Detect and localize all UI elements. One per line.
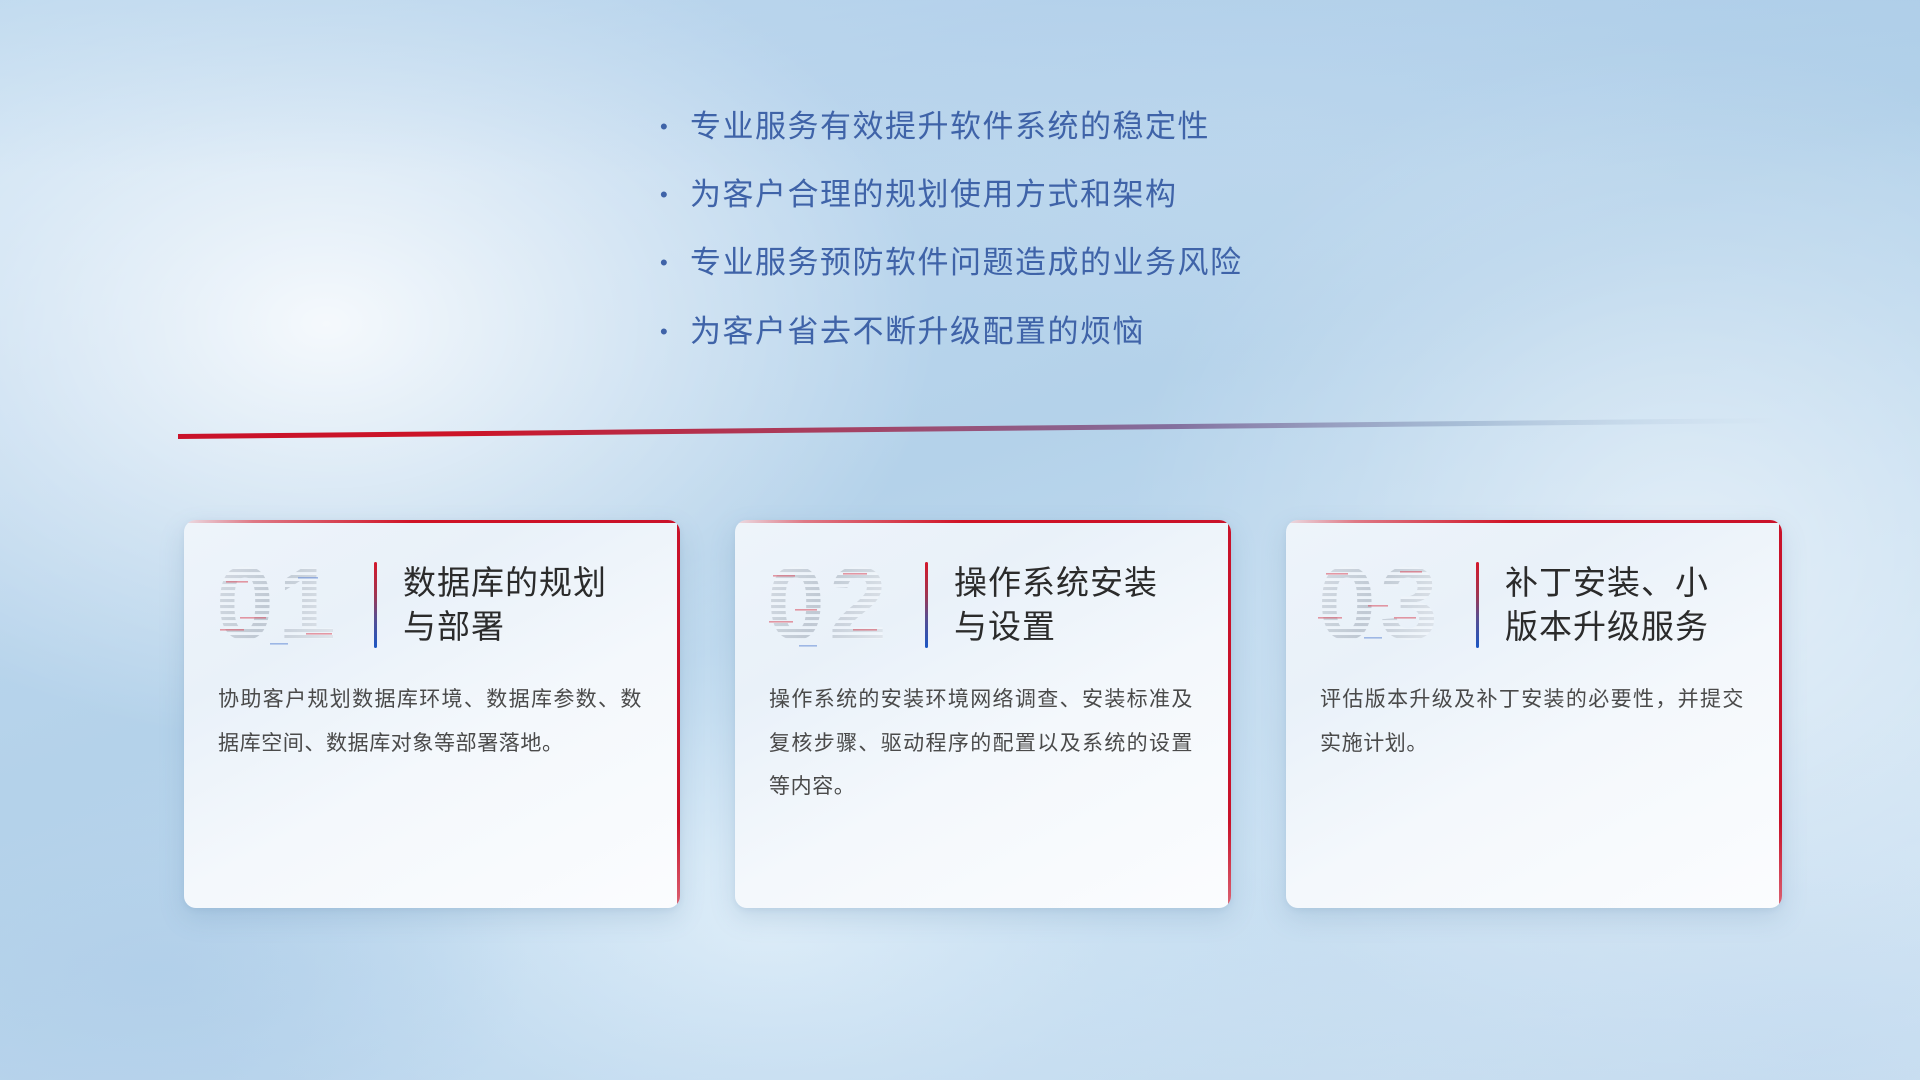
card-title: 数据库的规划 与部署 [403,561,607,648]
card-header: 03 03 补丁安装、小 版本升级服务 [1286,520,1782,660]
svg-text:02: 02 [767,551,891,659]
svg-text:01: 01 [216,551,340,659]
feature-card[interactable]: 02 02 操作系统安装 与设置 [735,520,1231,908]
feature-card-row: 01 01 数据库的规划 与部署 [184,520,1784,908]
bullet-item: • 专业服务有效提升软件系统的稳定性 [660,108,1420,145]
bullet-dot-icon: • [660,321,690,343]
bullet-text: 专业服务预防软件问题造成的业务风险 [690,244,1243,281]
card-accent-rule [925,562,928,648]
card-number-graphic: 02 02 [765,551,915,659]
striped-number-icon: 03 03 [1316,551,1466,659]
card-header: 01 01 数据库的规划 与部署 [184,520,680,660]
card-title: 补丁安装、小 版本升级服务 [1505,561,1709,648]
section-divider-shape [178,418,1778,440]
bullet-dot-icon: • [660,184,690,206]
bullet-dot-icon: • [660,252,690,274]
bullet-text: 为客户省去不断升级配置的烦恼 [690,313,1145,350]
card-title: 操作系统安装 与设置 [954,561,1158,648]
bullet-list: • 专业服务有效提升软件系统的稳定性 • 为客户合理的规划使用方式和架构 • 专… [660,108,1420,381]
bullet-text: 为客户合理的规划使用方式和架构 [690,176,1178,213]
striped-number-icon: 02 02 [765,551,915,659]
card-number-graphic: 03 03 [1316,551,1466,659]
card-accent-rule [1476,562,1479,648]
feature-card[interactable]: 01 01 数据库的规划 与部署 [184,520,680,908]
bullet-text: 专业服务有效提升软件系统的稳定性 [690,108,1210,145]
card-body-text: 评估版本升级及补丁安装的必要性，并提交实施计划。 [1286,660,1782,765]
card-header: 02 02 操作系统安装 与设置 [735,520,1231,660]
bullet-item: • 为客户省去不断升级配置的烦恼 [660,313,1420,350]
bullet-dot-icon: • [660,116,690,138]
bullet-item: • 为客户合理的规划使用方式和架构 [660,176,1420,213]
section-divider [178,418,1778,440]
bullet-item: • 专业服务预防软件问题造成的业务风险 [660,244,1420,281]
slide-root: • 专业服务有效提升软件系统的稳定性 • 为客户合理的规划使用方式和架构 • 专… [0,0,1920,1080]
card-body-text: 操作系统的安装环境网络调查、安装标准及复核步骤、驱动程序的配置以及系统的设置等内… [735,660,1231,809]
feature-card[interactable]: 03 03 补丁安装、小 版本升级服务 [1286,520,1782,908]
card-accent-rule [374,562,377,648]
card-body-text: 协助客户规划数据库环境、数据库参数、数据库空间、数据库对象等部署落地。 [184,660,680,765]
card-number-graphic: 01 01 [214,551,364,659]
striped-number-icon: 01 01 [214,551,364,659]
